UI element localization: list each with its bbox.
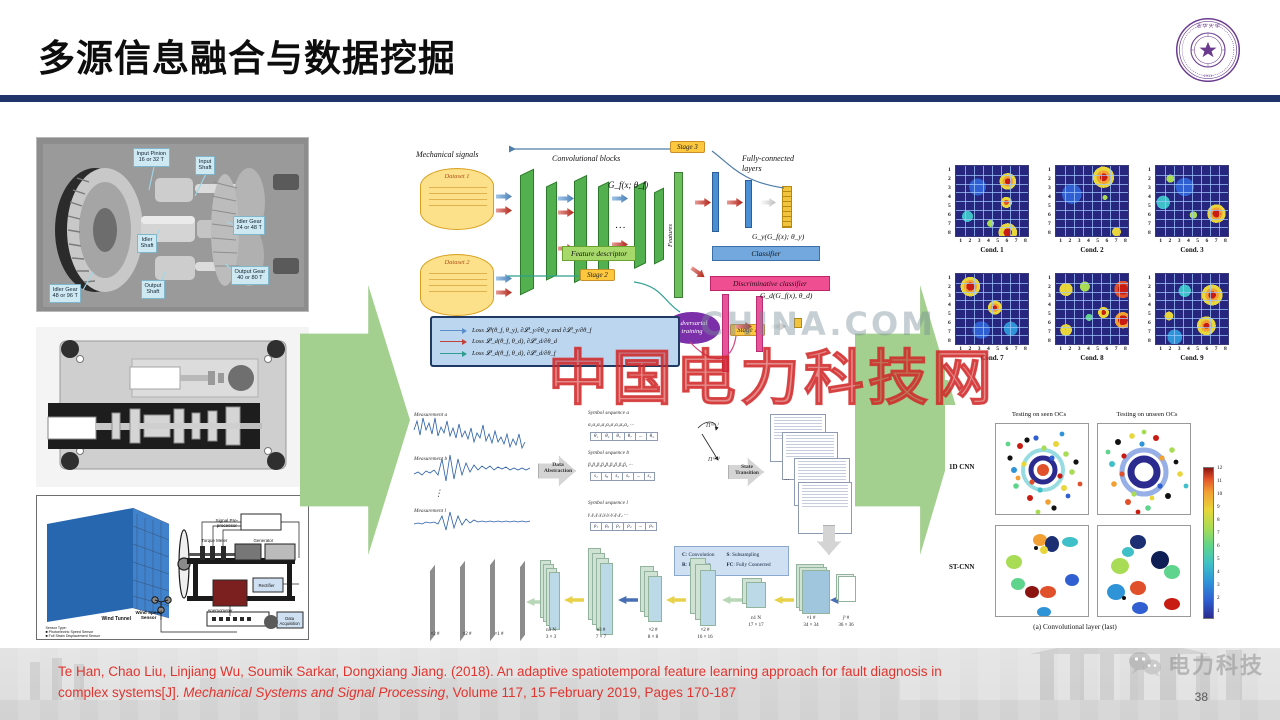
cnn-arrow-s3 <box>564 596 584 604</box>
cb-tick-5: 5 <box>1217 556 1220 562</box>
legend-key-fc: FC <box>726 562 733 568</box>
heatmap-xaxis-2: 12 34 56 78 <box>1056 238 1130 244</box>
heatmap-xaxis-8: 12 34 56 78 <box>1056 346 1130 352</box>
label-generator: Generator <box>251 536 276 545</box>
tsne-plot-stcnn-unseen <box>1097 525 1191 617</box>
cnn-arrow-r2 <box>466 598 486 606</box>
rotor-test-bench-photo <box>36 327 309 487</box>
cnn-architecture-stack-diagram: C: Convolution S: Subsampling R: Reshapi… <box>412 540 854 645</box>
conv-arrow-2a <box>612 194 628 203</box>
callout-input-shaft: Input Shaft <box>195 156 215 175</box>
sym-a-0: θ₁ <box>591 433 602 440</box>
band-discriminative-classifier: Discriminative classifier <box>710 276 830 291</box>
callout-output-gear: Output Gear 40 or 80 T <box>231 266 269 285</box>
tsne-feature-visualization: Testing on seen OCs Testing on unseen OC… <box>945 405 1245 645</box>
cnn-cap-1: ×2 # <box>422 632 448 639</box>
legend-key-r: R <box>682 562 686 568</box>
loss-legend-box: Loss 𝓛ʸ(θ_f, θ_y), ∂𝓛ⁱ_y/∂θ_y and ∂𝓛ⁱ_y/… <box>430 316 680 367</box>
conv-arrow-1b <box>558 208 574 217</box>
cb-tick-9: 9 <box>1217 504 1220 510</box>
loss-text-d: Loss 𝓛ⁱ_d(θ_f, θ_d), ∂𝓛ⁱ_d/∂θ_d <box>472 337 557 346</box>
tsne-caption: (a) Convolutional layer (last) <box>945 623 1205 631</box>
label-data-abstraction: Data Abstraction <box>540 462 576 474</box>
heatmap-gridlines-3 <box>1156 166 1228 236</box>
label-data-acquisition: Data Acquisition <box>277 614 302 628</box>
heatmap-yaxis-7: 12 34 56 78 <box>948 273 951 345</box>
legend-desc-s: Subsampling <box>732 552 759 558</box>
cnn-arrow-r1 <box>496 598 516 606</box>
cnn-cap-3: ×1 # <box>486 632 512 639</box>
tsne-colorbar <box>1203 467 1214 619</box>
citation-line-2-pre: complex systems[J]. <box>58 685 183 700</box>
features-bar <box>674 172 683 298</box>
heatmap-title-cond-1: Cond. 1 <box>955 246 1029 254</box>
legend-desc-fc: Fully Connected <box>736 562 770 568</box>
output-vector-y <box>782 186 792 228</box>
conv-arrow-1a <box>558 194 574 203</box>
loss-arrow-d-icon <box>440 341 466 342</box>
wind-tunnel-schematic: Wind Tunnel Wind Speed Sensor Signal Pre… <box>36 495 309 640</box>
cnn-cap-2: ×2 # <box>454 632 480 639</box>
label-gy-function: G_y(G_f(x); θ_y) <box>752 232 804 241</box>
dataset-1-label: Dataset 1 <box>421 173 493 180</box>
classifier-arrow-2 <box>727 198 743 207</box>
label-wind-speed-sensor: Wind Speed Sensor <box>133 608 164 622</box>
loss-row-y: Loss 𝓛ʸ(θ_f, θ_y), ∂𝓛ⁱ_y/∂θ_y and ∂𝓛ⁱ_y/… <box>440 326 670 335</box>
symbol-box-a: θ₁ θ₂ θ₅ θ₇ ... θ₃ <box>590 432 658 441</box>
heatmap-cell-cond-2: 12 34 56 78 12 34 56 78 Cond. 2 <box>1055 165 1129 237</box>
tsne-plot-1dcnn-seen <box>995 423 1089 515</box>
cb-tick-1: 1 <box>1217 608 1220 614</box>
cnn-cap-10: j³ # 36 × 36 <box>830 616 862 629</box>
cb-tick-4: 4 <box>1217 569 1220 575</box>
cb-tick-10: 10 <box>1217 491 1222 497</box>
loss-text-y: Loss 𝓛ʸ(θ_f, θ_y), ∂𝓛ⁱ_y/∂θ_y and ∂𝓛ⁱ_y/… <box>472 326 591 335</box>
heatmap-title-cond-8: Cond. 8 <box>1055 354 1129 362</box>
heatmap-title-cond-2: Cond. 2 <box>1055 246 1129 254</box>
heatmap-yaxis-3: 12 34 56 78 <box>1148 165 1151 237</box>
wechat-icon <box>1128 650 1162 678</box>
operator-pi-ab: Π⁽ᵃᵇ⁾ <box>708 456 719 463</box>
sym-a-3: θ₇ <box>625 433 636 440</box>
label-wind-tunnel: Wind Tunnel <box>99 614 134 623</box>
sym-a-4: ... <box>636 433 647 440</box>
callout-idler-gear-48: Idler Gear 48 or 96 T <box>49 284 81 303</box>
tsne-row-title-stcnn: ST-CNN <box>949 563 974 571</box>
heatmap-title-cond-3: Cond. 3 <box>1155 246 1229 254</box>
svg-text:清 华 大 学: 清 华 大 学 <box>1196 23 1220 30</box>
conv-slab-3 <box>574 175 587 283</box>
heatmap-image-cond-9 <box>1155 273 1229 345</box>
sym-l-0: ρ₁ <box>591 523 602 530</box>
cb-tick-11: 11 <box>1217 478 1222 484</box>
cb-tick-12: 12 <box>1217 465 1222 471</box>
condition-heatmap-grid: 12 34 56 78 12 34 56 78 Cond. 1 <box>945 165 1240 380</box>
tsne-plot-1dcnn-unseen <box>1097 423 1191 515</box>
heatmap-cell-cond-7: 12 34 56 78 12 34 56 78 Cond. 7 <box>955 273 1029 345</box>
sym-b-5: s₂ <box>645 473 655 480</box>
cb-tick-6: 6 <box>1217 543 1220 549</box>
callout-idler-shaft: Idler Shaft <box>137 234 157 253</box>
heatmap-gridlines-8 <box>1056 274 1128 344</box>
header-divider-gap <box>0 102 1280 104</box>
matrix-ellipsis: ··· <box>784 476 789 484</box>
sym-b-1: s₆ <box>602 473 613 480</box>
seq-l-text: γ₁γ₂γ₃γ₄γ₅γ₇γ₃γ₅γ₄ ··· <box>588 512 628 518</box>
cb-tick-2: 2 <box>1217 595 1220 601</box>
label-symbol-sequence-l: Symbol sequence l <box>588 500 628 506</box>
sym-l-2: ρ₃ <box>613 523 624 530</box>
label-torque-meter: Torque Meter <box>199 536 230 545</box>
classifier-arrow-1 <box>695 198 711 207</box>
cnn-arrow-c3 <box>618 596 638 604</box>
band-feature-descriptor: Feature descriptor <box>562 246 636 261</box>
label-gf-function: G_f(x; θ_f) <box>608 180 648 190</box>
heatmap-cell-cond-8: 12 34 56 78 12 34 56 78 Cond. 8 <box>1055 273 1129 345</box>
label-features: Features <box>667 224 674 247</box>
heatmap-yaxis-2: 12 34 56 78 <box>1048 165 1051 237</box>
flow-arrow-left <box>300 285 410 555</box>
label-symbol-sequence-b: Symbol sequence b <box>588 450 629 456</box>
legend-key-c: C <box>682 552 686 558</box>
heatmap-image-cond-2 <box>1055 165 1129 237</box>
citation-journal: Mechanical Systems and Signal Processing <box>183 685 445 700</box>
feed-arrow-2b <box>496 288 512 297</box>
cnn-arrow-s1 <box>774 596 794 604</box>
sym-l-3: ρ₂ <box>624 523 635 530</box>
fc-slab-4 <box>520 561 525 641</box>
cnn-cap-8: n1 N 17 × 17 <box>738 616 774 629</box>
heatmap-xaxis-7: 12 34 56 78 <box>956 346 1030 352</box>
header-divider <box>0 95 1280 102</box>
conv-slab-1 <box>520 169 534 296</box>
dataset-2-label: Dataset 2 <box>421 259 493 266</box>
heatmap-xaxis-9: 12 34 56 78 <box>1156 346 1230 352</box>
heatmap-image-cond-1 <box>955 165 1029 237</box>
discriminator-arrow-3 <box>770 322 786 331</box>
tsinghua-university-seal-icon: 清 华 大 学 ·1911· <box>1174 16 1242 84</box>
svg-text:·1911·: ·1911· <box>1203 74 1214 78</box>
conv-slab-6 <box>654 188 664 265</box>
heatmap-yaxis-8: 12 34 56 78 <box>1048 273 1051 345</box>
heatmap-image-cond-7 <box>955 273 1029 345</box>
fc-slab-2 <box>460 561 465 641</box>
dataset-2-cylinder: Dataset 2 <box>420 254 494 316</box>
feed-arrow-1a <box>496 192 512 201</box>
heatmap-xaxis-3: 12 34 56 78 <box>1156 238 1230 244</box>
heatmap-cell-cond-3: 12 34 56 78 12 34 56 78 Cond. 3 <box>1155 165 1229 237</box>
discriminator-arrow-1 <box>689 264 707 281</box>
cnn-arrow-s2 <box>666 596 686 604</box>
fc-slab-1 <box>430 565 435 641</box>
label-convolutional-blocks: Convolutional blocks <box>552 154 620 163</box>
cnn-cap-6: ×2 # 8 × 8 <box>636 628 670 641</box>
wechat-badge: 电力科技 <box>1128 648 1264 680</box>
feed-arrow-2a <box>496 274 512 283</box>
page-title: 多源信息融合与数据挖掘 <box>38 28 456 82</box>
sym-b-4: ... <box>634 473 645 480</box>
label-gd-function: G_d(G_f(x), θ_d) <box>760 291 812 300</box>
fc-slab-3 <box>490 559 495 641</box>
disc-bar-1 <box>722 294 729 372</box>
tsne-col-title-seen: Testing on seen OCs <box>991 411 1087 418</box>
cb-tick-3: 3 <box>1217 582 1220 588</box>
wechat-label: 电力科技 <box>1168 648 1264 680</box>
label-sensor-type: Sensor Type: ■ Photoelectric Speed Senso… <box>43 624 105 640</box>
seq-b-text: β₁β₂β₃β₄β₅β₂β₁β₃β₄ ··· <box>588 462 633 468</box>
cb-tick-8: 8 <box>1217 517 1220 523</box>
heatmap-yaxis-1: 12 34 56 78 <box>948 165 951 237</box>
conv-slab-2 <box>546 181 557 280</box>
dataset-1-cylinder: Dataset 1 <box>420 168 494 230</box>
tsne-plot-stcnn-seen <box>995 525 1089 617</box>
gearbox-cutaway-photo: Input Pinion 16 or 32 T Input Shaft Idle… <box>36 137 309 312</box>
heatmap-gridlines-9 <box>1156 274 1228 344</box>
page-number: 38 <box>1195 690 1208 704</box>
ellipsis-conv: ··· <box>615 222 626 234</box>
output-vector-d <box>794 318 802 328</box>
label-anemometer: Anemometer <box>205 606 235 615</box>
citation-line-1: Te Han, Chao Liu, Linjiang Wu, Soumik Sa… <box>58 664 942 679</box>
label-signal-preprocessor: Signal Pre- processor <box>213 516 241 530</box>
sym-b-0: s₁ <box>591 473 602 480</box>
loss-arrow-df-icon <box>440 353 466 354</box>
fc-bar-2 <box>745 180 752 228</box>
heatmap-gridlines-1 <box>956 166 1028 236</box>
heatmap-gridlines-2 <box>1056 166 1128 236</box>
label-mechanical-signals: Mechanical signals <box>416 150 478 159</box>
cnn-cap-9: ×1 # 34 × 34 <box>792 616 830 629</box>
sym-a-2: θ₅ <box>613 433 624 440</box>
heatmap-title-cond-9: Cond. 9 <box>1155 354 1229 362</box>
heatmap-image-cond-8 <box>1055 273 1129 345</box>
cb-tick-7: 7 <box>1217 530 1220 536</box>
citation-text: Te Han, Chao Liu, Linjiang Wu, Soumik Sa… <box>58 662 1118 704</box>
cnn-cap-4: n3 N 3 × 3 <box>534 628 568 641</box>
citation-line-2-post: , Volume 117, 15 February 2019, Pages 17… <box>445 685 736 700</box>
heatmap-title-cond-7: Cond. 7 <box>955 354 1029 362</box>
sym-b-2: s₃ <box>612 473 623 480</box>
cnn-arrow-c2 <box>722 596 742 604</box>
heatmap-xaxis-1: 12 34 56 78 <box>956 238 1030 244</box>
callout-input-pinion: Input Pinion 16 or 32 T <box>133 148 170 167</box>
heatmap-gridlines-7 <box>956 274 1028 344</box>
heatmap-cell-cond-1: 12 34 56 78 12 34 56 78 Cond. 1 <box>955 165 1029 237</box>
sym-l-5: ρ₅ <box>646 523 656 530</box>
sym-a-1: θ₂ <box>602 433 613 440</box>
stage-3-tag: Stage 3 <box>670 141 705 153</box>
heatmap-image-cond-3 <box>1155 165 1229 237</box>
label-fully-connected-layers: Fully-connected layers <box>742 154 794 173</box>
loss-arrow-y-icon <box>440 330 466 331</box>
callout-output-shaft: Output Shaft <box>141 280 165 299</box>
operator-pi-aa: Π⁽ᵃᵃ⁾ <box>706 422 718 429</box>
loss-text-df: Loss 𝓛ⁱ_d(θ_f, θ_d), ∂𝓛ⁱ_d/∂θ_f <box>472 349 556 358</box>
loss-row-d: Loss 𝓛ⁱ_d(θ_f, θ_d), ∂𝓛ⁱ_d/∂θ_d <box>440 337 670 346</box>
band-classifier: Classifier <box>712 246 820 261</box>
sym-a-5: θ₃ <box>647 433 657 440</box>
legend-key-s: S <box>726 552 729 558</box>
sym-b-3: s₇ <box>623 473 634 480</box>
symbolic-dynamic-filtering-diagram: Measurement a Measurement b Measurement … <box>412 400 854 540</box>
stage-2-tag: Stage 2 <box>580 269 615 281</box>
loss-row-df: Loss 𝓛ⁱ_d(θ_f, θ_d), ∂𝓛ⁱ_d/∂θ_f <box>440 349 670 358</box>
sym-l-4: ... <box>636 523 647 530</box>
tsne-col-title-unseen: Testing on unseen OCs <box>1097 411 1197 418</box>
cnn-cap-5: n3 # 7 × 7 <box>584 628 618 641</box>
feed-arrow-1b <box>496 206 512 215</box>
heatmap-yaxis-9: 12 34 56 78 <box>1148 273 1151 345</box>
classifier-arrow-3 <box>760 198 776 207</box>
label-rectifier: Rectifier <box>256 581 277 590</box>
tsne-row-title-1dcnn: 1D CNN <box>949 463 974 471</box>
label-symbol-sequence-a: Symbol sequence a <box>588 410 629 416</box>
fc-bar-1 <box>712 172 719 232</box>
disc-bar-2 <box>756 296 763 352</box>
cnn-cap-7: ×2 # 16 × 16 <box>686 628 724 641</box>
heatmap-cell-cond-9: 12 34 56 78 12 34 56 78 Cond. 9 <box>1155 273 1229 345</box>
adversarial-domain-adaptation-diagram: Mechanical signals Convolutional blocks … <box>412 136 854 391</box>
seq-a-text: α₁α₂α₃α₄α₅α₁α₃α₅α₂ ··· <box>588 422 634 428</box>
cnn-arrow-fc <box>436 598 456 606</box>
callout-idler-gear-24: Idler Gear 24 or 48 T <box>233 216 265 235</box>
symbol-box-b: s₁ s₆ s₃ s₇ ... s₂ <box>590 472 655 481</box>
sym-l-1: ρ₆ <box>602 523 613 530</box>
slide-header: 多源信息融合与数据挖掘 清 华 大 学 ·1911· <box>0 0 1280 100</box>
label-state-transition: State Transition <box>730 464 764 476</box>
symbol-box-l: ρ₁ ρ₆ ρ₃ ρ₂ ... ρ₅ <box>590 522 657 531</box>
